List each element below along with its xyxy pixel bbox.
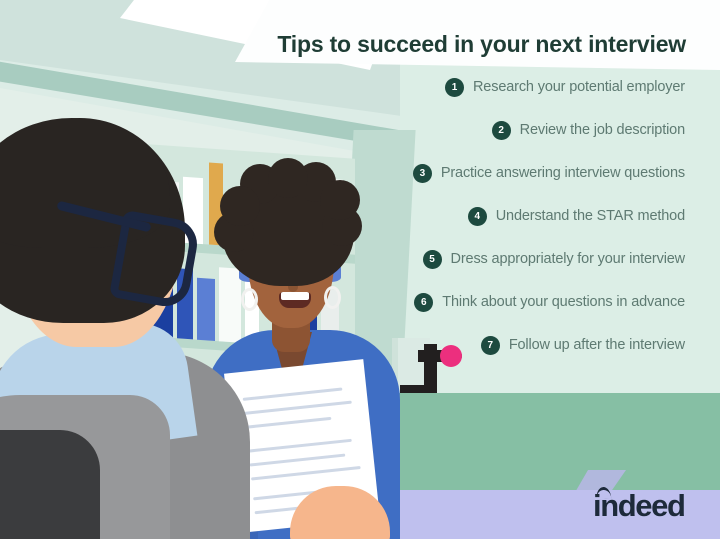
earring-left bbox=[241, 288, 258, 311]
tip-number-badge: 1 bbox=[445, 78, 464, 97]
tip-label: Research your potential employer bbox=[473, 79, 685, 95]
tip-number-badge: 3 bbox=[413, 164, 432, 183]
indeed-logo: indeed bbox=[593, 488, 685, 524]
paper-line bbox=[243, 387, 343, 400]
tip-label: Dress appropriately for your interview bbox=[451, 251, 685, 267]
tip-number-badge: 5 bbox=[423, 250, 442, 269]
tips-list: 1 Research your potential employer 2 Rev… bbox=[380, 76, 685, 377]
paper-line bbox=[250, 454, 346, 467]
paper-line bbox=[251, 466, 361, 480]
tip-item-7: 7 Follow up after the interview bbox=[380, 334, 685, 356]
page-title: Tips to succeed in your next interview bbox=[276, 31, 686, 58]
woman-afro-hair bbox=[320, 180, 360, 220]
tip-item-1: 1 Research your potential employer bbox=[380, 76, 685, 98]
woman-afro-hair bbox=[220, 186, 260, 226]
earring-right bbox=[324, 286, 341, 309]
paper-line bbox=[248, 439, 352, 453]
tip-label: Think about your questions in advance bbox=[442, 294, 685, 310]
interview-tips-infographic: Tips to succeed in your next interview 1… bbox=[0, 0, 720, 539]
tip-label: Understand the STAR method bbox=[496, 208, 685, 224]
tip-item-4: 4 Understand the STAR method bbox=[380, 205, 685, 227]
tip-number-badge: 6 bbox=[414, 293, 433, 312]
tip-item-3: 3 Practice answering interview questions bbox=[380, 162, 685, 184]
tip-number-badge: 4 bbox=[468, 207, 487, 226]
tip-number-badge: 7 bbox=[481, 336, 500, 355]
book bbox=[197, 278, 215, 341]
paper-line bbox=[246, 417, 332, 429]
tip-item-6: 6 Think about your questions in advance bbox=[380, 291, 685, 313]
paper-line bbox=[244, 401, 352, 415]
tip-item-5: 5 Dress appropriately for your interview bbox=[380, 248, 685, 270]
man-chair-back bbox=[0, 430, 100, 539]
tip-label: Review the job description bbox=[520, 122, 685, 138]
tip-label: Practice answering interview questions bbox=[441, 165, 685, 181]
woman-afro-hair bbox=[268, 158, 308, 198]
woman-mouth bbox=[279, 292, 311, 308]
teeth bbox=[281, 292, 309, 300]
tip-item-2: 2 Review the job description bbox=[380, 119, 685, 141]
book bbox=[219, 267, 241, 343]
tip-number-badge: 2 bbox=[492, 121, 511, 140]
tip-label: Follow up after the interview bbox=[509, 337, 685, 353]
